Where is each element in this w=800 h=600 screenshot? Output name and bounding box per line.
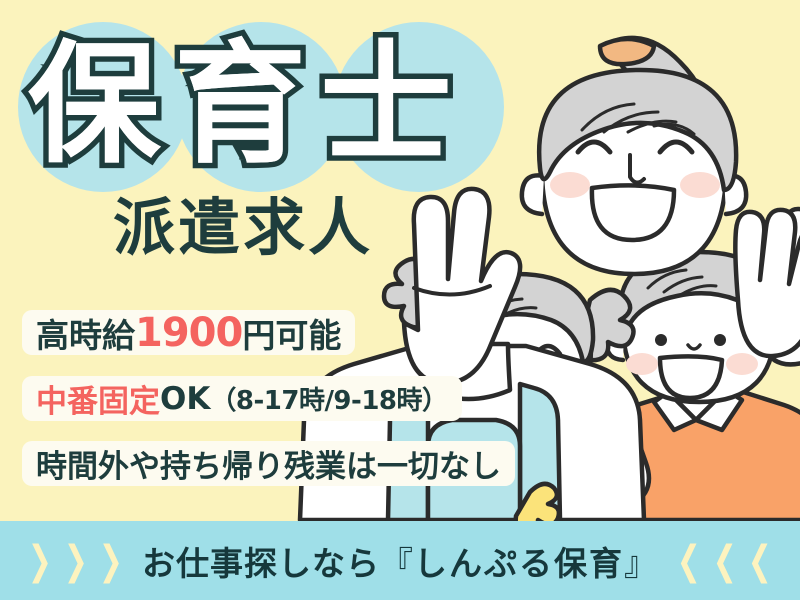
- chevron-right-icon: ❯: [64, 541, 88, 581]
- banner-lead-text: お仕事探しなら: [142, 544, 380, 583]
- poster-root: 保育士 保育士 派遣求人 高時給1900円可能 中番固定OK（8-17時/9-1…: [0, 0, 800, 600]
- chevrons-right-icon: ❮ ❮ ❮: [672, 541, 777, 581]
- bullet-wage: 高時給1900円可能: [22, 310, 355, 355]
- chevron-left-icon: ❮: [748, 541, 772, 581]
- banner-message: お仕事探しなら『しんぷる保育』: [142, 537, 658, 585]
- chevron-left-icon: ❮: [677, 541, 701, 581]
- page-subtitle: 派遣求人: [113, 192, 373, 264]
- bullet-overtime-text: 時間外や持ち帰り残業は一切なし: [36, 441, 501, 486]
- bullet-shift-note: （8-17時/9-18時）: [210, 380, 447, 417]
- bullet-wage-prefix: 高時給: [36, 309, 135, 357]
- bullet-overtime: 時間外や持ち帰り残業は一切なし: [22, 441, 515, 486]
- banner-close-bracket: 』: [624, 544, 658, 583]
- bottom-banner: ❯ ❯ ❯ お仕事探しなら『しんぷる保育』 ❮ ❮ ❮: [0, 521, 800, 600]
- bullet-shift: 中番固定OK（8-17時/9-18時）: [22, 376, 462, 421]
- page-title: 保育士: [28, 30, 498, 180]
- teacher-right-hand: [735, 210, 800, 356]
- chevron-right-icon: ❯: [99, 541, 123, 581]
- teacher-head: [522, 38, 746, 274]
- banner-company-name: しんぷる保育: [414, 544, 624, 583]
- chevron-left-icon: ❮: [712, 541, 736, 581]
- bullet-wage-amount: 1900: [135, 310, 242, 356]
- chevron-right-icon: ❯: [28, 541, 52, 581]
- bullet-shift-label: OK: [160, 381, 210, 417]
- chevrons-left-icon: ❯ ❯ ❯: [23, 541, 128, 581]
- bullet-shift-highlight: 中番固定: [36, 376, 160, 421]
- bullet-wage-suffix: 円可能: [242, 309, 341, 357]
- banner-open-bracket: 『: [380, 544, 414, 583]
